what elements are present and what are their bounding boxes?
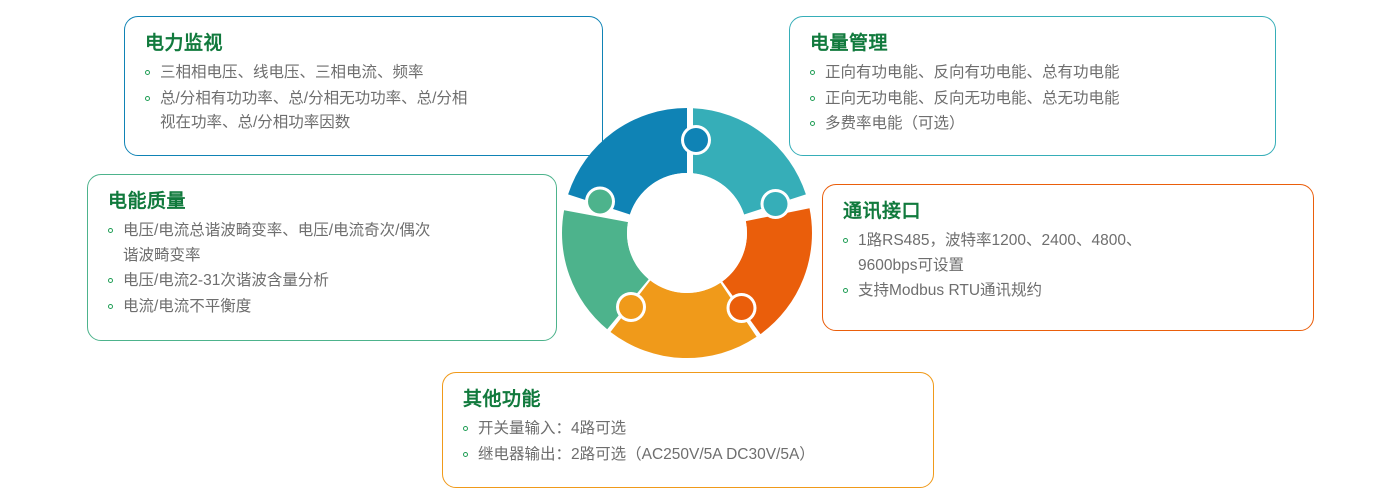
bullet-dot-icon	[810, 70, 815, 75]
card-title-energy-management: 电量管理	[810, 31, 1257, 57]
bullet-dot-icon	[463, 426, 468, 431]
list-item: 继电器输出：2路可选（AC250V/5A DC30V/5A）	[463, 443, 915, 468]
bullet-dot-icon	[843, 238, 848, 243]
list-item: 电压/电流2-31次谐波含量分析	[108, 269, 538, 294]
list-item-text: 多费率电能（可选）	[825, 115, 965, 132]
list-item: 1路RS485，波特率1200、2400、4800、 9600bps可设置	[843, 229, 1295, 278]
list-item-text: 电压/电流总谐波畸变率、电压/电流奇次/偶次 谐波畸变率	[123, 222, 430, 264]
ring-center-hole	[627, 173, 747, 293]
bullet-list-power-monitoring: 三相相电压、线电压、三相电流、频率 总/分相有功功率、总/分相无功功率、总/分相…	[145, 61, 584, 136]
card-title-power-quality: 电能质量	[108, 189, 538, 215]
list-item: 总/分相有功功率、总/分相无功功率、总/分相 视在功率、总/分相功率因数	[145, 87, 584, 136]
bullet-list-power-quality: 电压/电流总谐波畸变率、电压/电流奇次/偶次 谐波畸变率 电压/电流2-31次谐…	[108, 219, 538, 319]
list-item-text: 总/分相有功功率、总/分相无功功率、总/分相 视在功率、总/分相功率因数	[160, 90, 467, 132]
list-item: 电流/电流不平衡度	[108, 295, 538, 320]
list-item: 多费率电能（可选）	[810, 112, 1257, 137]
list-item: 正向有功电能、反向有功电能、总有功电能	[810, 61, 1257, 86]
list-item-text: 正向有功电能、反向有功电能、总有功电能	[825, 64, 1120, 81]
bullet-dot-icon	[145, 96, 150, 101]
bullet-list-energy-management: 正向有功电能、反向有功电能、总有功电能 正向无功电能、反向无功电能、总无功电能 …	[810, 61, 1257, 137]
card-title-other-functions: 其他功能	[463, 387, 915, 413]
list-item: 正向无功电能、反向无功电能、总无功电能	[810, 87, 1257, 112]
list-item-text: 1路RS485，波特率1200、2400、4800、 9600bps可设置	[858, 232, 1141, 274]
list-item: 电压/电流总谐波畸变率、电压/电流奇次/偶次 谐波畸变率	[108, 219, 538, 268]
bullet-list-other-functions: 开关量输入：4路可选 继电器输出：2路可选（AC250V/5A DC30V/5A…	[463, 417, 915, 467]
infographic-canvas: 电力监视 三相相电压、线电压、三相电流、频率 总/分相有功功率、总/分相无功功率…	[0, 0, 1400, 499]
bullet-list-communication: 1路RS485，波特率1200、2400、4800、 9600bps可设置 支持…	[843, 229, 1295, 304]
bullet-dot-icon	[145, 70, 150, 75]
list-item-text: 开关量输入：4路可选	[478, 420, 626, 437]
bullet-dot-icon	[108, 228, 113, 233]
bullet-dot-icon	[843, 288, 848, 293]
list-item: 支持Modbus RTU通讯规约	[843, 279, 1295, 304]
card-power-quality: 电能质量 电压/电流总谐波畸变率、电压/电流奇次/偶次 谐波畸变率 电压/电流2…	[87, 174, 557, 341]
bullet-dot-icon	[108, 278, 113, 283]
list-item: 三相相电压、线电压、三相电流、频率	[145, 61, 584, 86]
list-item-text: 正向无功电能、反向无功电能、总无功电能	[825, 90, 1120, 107]
card-communication: 通讯接口 1路RS485，波特率1200、2400、4800、 9600bps可…	[822, 184, 1314, 331]
bullet-dot-icon	[810, 96, 815, 101]
blue-green-joint	[585, 187, 615, 217]
list-item-text: 支持Modbus RTU通讯规约	[858, 282, 1042, 299]
card-title-communication: 通讯接口	[843, 199, 1295, 225]
card-power-monitoring: 电力监视 三相相电压、线电压、三相电流、频率 总/分相有功功率、总/分相无功功率…	[124, 16, 603, 156]
puzzle-ring-graphic	[557, 103, 817, 363]
list-item-text: 三相相电压、线电压、三相电流、频率	[160, 64, 424, 81]
card-other-functions: 其他功能 开关量输入：4路可选 继电器输出：2路可选（AC250V/5A DC3…	[442, 372, 934, 488]
bullet-dot-icon	[108, 304, 113, 309]
card-title-power-monitoring: 电力监视	[145, 31, 584, 57]
list-item-text: 继电器输出：2路可选（AC250V/5A DC30V/5A）	[478, 446, 815, 463]
card-energy-management: 电量管理 正向有功电能、反向有功电能、总有功电能 正向无功电能、反向无功电能、总…	[789, 16, 1276, 156]
bullet-dot-icon	[463, 452, 468, 457]
list-item: 开关量输入：4路可选	[463, 417, 915, 442]
list-item-text: 电压/电流2-31次谐波含量分析	[123, 272, 329, 289]
list-item-text: 电流/电流不平衡度	[123, 298, 251, 315]
